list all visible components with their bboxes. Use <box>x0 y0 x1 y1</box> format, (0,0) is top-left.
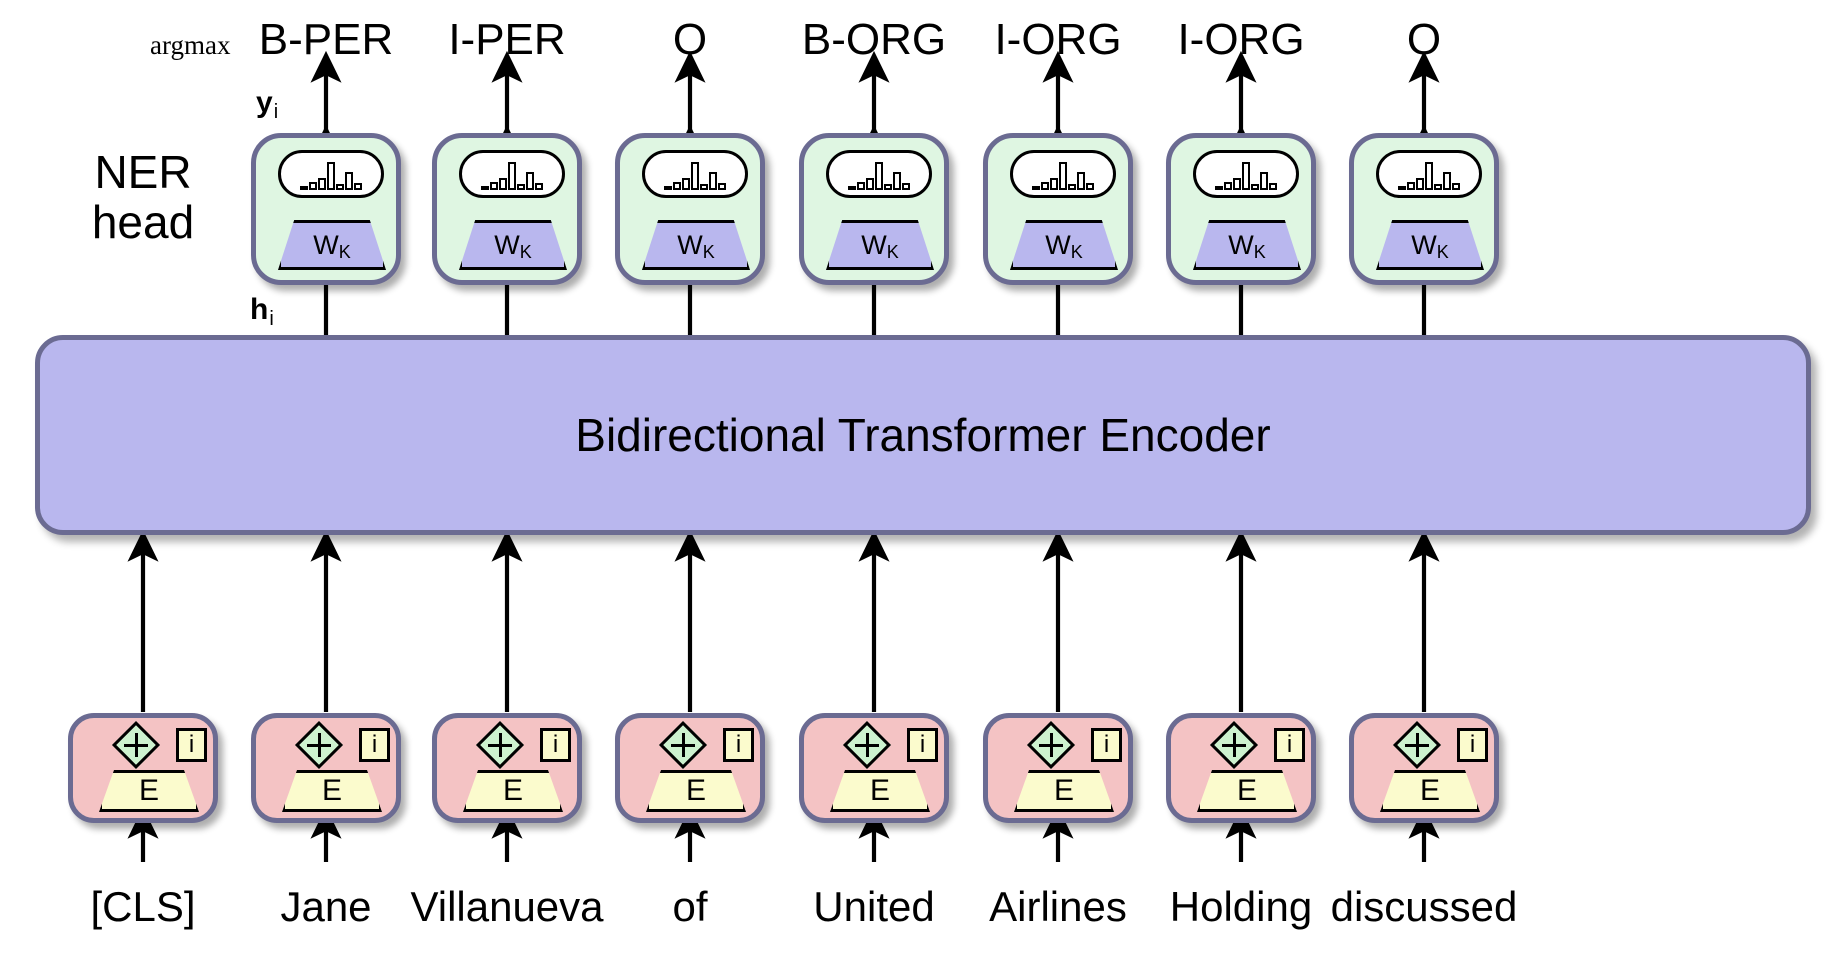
ner-head-cell[interactable]: WK <box>251 133 401 285</box>
softmax-histogram <box>1032 156 1094 190</box>
softmax-bar <box>300 186 308 190</box>
embedding-cell[interactable]: i E <box>615 713 765 823</box>
softmax-bar <box>700 184 708 190</box>
softmax-histogram <box>1215 156 1277 190</box>
softmax-distribution-pill <box>1376 150 1482 198</box>
softmax-bar <box>1077 172 1085 190</box>
plus-glyph-icon <box>1217 728 1251 762</box>
diagram-canvas: B-PER I-PER O B-ORG I-ORG I-ORG O argmax… <box>0 0 1846 958</box>
softmax-distribution-pill <box>642 150 748 198</box>
encoder-label: Bidirectional Transformer Encoder <box>575 408 1270 462</box>
softmax-bar <box>1269 183 1277 190</box>
argmax-label: argmax <box>150 32 230 59</box>
softmax-bar <box>517 184 525 190</box>
embedding-cell[interactable]: i E <box>799 713 949 823</box>
softmax-bar <box>875 162 883 190</box>
weight-label: WK <box>1010 220 1118 270</box>
embedding-trapezoid[interactable]: E <box>646 770 746 812</box>
tag-label-5: I-ORG <box>1177 18 1304 62</box>
weight-label: WK <box>278 220 386 270</box>
embedding-label: E <box>1197 770 1297 812</box>
softmax-distribution-pill <box>278 150 384 198</box>
weight-subscript: K <box>887 242 899 263</box>
softmax-bar <box>664 186 672 190</box>
softmax-bar <box>682 178 690 190</box>
softmax-bar <box>691 162 699 190</box>
softmax-bar <box>327 162 335 190</box>
embedding-label: E <box>830 770 930 812</box>
softmax-bar <box>309 182 317 190</box>
weight-subscript: K <box>1071 242 1083 263</box>
weight-label: WK <box>1376 220 1484 270</box>
softmax-distribution-pill <box>1010 150 1116 198</box>
embedding-trapezoid[interactable]: E <box>99 770 199 812</box>
softmax-distribution-pill <box>826 150 932 198</box>
ner-weight-trapezoid[interactable]: WK <box>1010 220 1118 270</box>
tag-label-6: O <box>1407 18 1441 62</box>
tag-label-4: I-ORG <box>994 18 1121 62</box>
softmax-bar <box>508 162 516 190</box>
weight-label: WK <box>826 220 934 270</box>
weight-symbol: W <box>313 230 338 261</box>
ner-weight-trapezoid[interactable]: WK <box>1193 220 1301 270</box>
position-index-box: i <box>1457 728 1488 762</box>
softmax-bar <box>1215 186 1223 190</box>
tag-label-3: B-ORG <box>802 18 946 62</box>
ner-head-cell[interactable]: WK <box>1166 133 1316 285</box>
position-index-box: i <box>1091 728 1122 762</box>
softmax-bar <box>673 182 681 190</box>
softmax-bar <box>526 172 534 190</box>
embedding-cell[interactable]: i E <box>1166 713 1316 823</box>
softmax-bar <box>490 182 498 190</box>
softmax-distribution-pill <box>459 150 565 198</box>
y-vector-label: yi <box>256 88 277 118</box>
embedding-cell[interactable]: i E <box>251 713 401 823</box>
tag-label-0: B-PER <box>259 18 393 62</box>
token-word: of <box>672 886 707 928</box>
plus-glyph-icon <box>302 728 336 762</box>
softmax-bar <box>884 184 892 190</box>
softmax-bar <box>1032 186 1040 190</box>
ner-head-cell[interactable]: WK <box>799 133 949 285</box>
token-word: [CLS] <box>90 886 195 928</box>
position-index-box: i <box>723 728 754 762</box>
position-index-box: i <box>1274 728 1305 762</box>
embedding-trapezoid[interactable]: E <box>1014 770 1114 812</box>
softmax-bar <box>902 183 910 190</box>
embedding-label: E <box>1014 770 1114 812</box>
embedding-cell[interactable]: i E <box>68 713 218 823</box>
softmax-bar <box>857 182 865 190</box>
softmax-bar <box>1407 182 1415 190</box>
softmax-histogram <box>1398 156 1460 190</box>
ner-head-label-line2: head <box>92 198 194 248</box>
y-symbol: y <box>256 86 273 119</box>
weight-label: WK <box>459 220 567 270</box>
softmax-distribution-pill <box>1193 150 1299 198</box>
ner-head-section-label: NER head <box>92 148 194 247</box>
token-word: United <box>813 886 934 928</box>
softmax-bar <box>1233 178 1241 190</box>
softmax-bar <box>1242 162 1250 190</box>
embedding-label: E <box>282 770 382 812</box>
weight-symbol: W <box>677 230 702 261</box>
softmax-bar <box>718 183 726 190</box>
softmax-bar <box>1260 172 1268 190</box>
embedding-label: E <box>1380 770 1480 812</box>
tag-label-1: I-PER <box>448 18 565 62</box>
weight-label: WK <box>642 220 750 270</box>
softmax-bar <box>535 183 543 190</box>
ner-weight-trapezoid[interactable]: WK <box>278 220 386 270</box>
weight-label: WK <box>1193 220 1301 270</box>
h-symbol: h <box>250 293 268 326</box>
position-index-box: i <box>540 728 571 762</box>
softmax-bar <box>848 186 856 190</box>
plus-glyph-icon <box>119 728 153 762</box>
softmax-bar <box>336 184 344 190</box>
embedding-cell[interactable]: i E <box>983 713 1133 823</box>
position-index-box: i <box>176 728 207 762</box>
token-word: Airlines <box>989 886 1127 928</box>
softmax-bar <box>354 183 362 190</box>
softmax-histogram <box>300 156 362 190</box>
weight-subscript: K <box>520 242 532 263</box>
weight-subscript: K <box>1254 242 1266 263</box>
ner-weight-trapezoid[interactable]: WK <box>642 220 750 270</box>
softmax-bar <box>345 172 353 190</box>
softmax-bar <box>1086 183 1094 190</box>
embedding-trapezoid[interactable]: E <box>1380 770 1480 812</box>
softmax-histogram <box>481 156 543 190</box>
weight-subscript: K <box>703 242 715 263</box>
embedding-cell[interactable]: i E <box>1349 713 1499 823</box>
embedding-label: E <box>99 770 199 812</box>
softmax-histogram <box>848 156 910 190</box>
softmax-bar <box>1059 162 1067 190</box>
softmax-bar <box>709 172 717 190</box>
ner-head-cell[interactable]: WK <box>432 133 582 285</box>
plus-glyph-icon <box>1400 728 1434 762</box>
h-vector-label: hi <box>250 295 273 325</box>
y-subscript: i <box>274 101 278 123</box>
position-index-box: i <box>359 728 390 762</box>
weight-subscript: K <box>339 242 351 263</box>
softmax-bar <box>1452 183 1460 190</box>
h-subscript: i <box>269 308 273 330</box>
softmax-bar <box>499 178 507 190</box>
softmax-bar <box>318 178 326 190</box>
embedding-cell[interactable]: i E <box>432 713 582 823</box>
token-word: Villanueva <box>410 886 603 928</box>
embedding-trapezoid[interactable]: E <box>463 770 563 812</box>
softmax-bar <box>1398 186 1406 190</box>
weight-symbol: W <box>1411 230 1436 261</box>
ner-weight-trapezoid[interactable]: WK <box>826 220 934 270</box>
token-word: Jane <box>280 886 371 928</box>
plus-glyph-icon <box>483 728 517 762</box>
weight-symbol: W <box>1228 230 1253 261</box>
embedding-trapezoid[interactable]: E <box>282 770 382 812</box>
position-index-box: i <box>907 728 938 762</box>
weight-subscript: K <box>1437 242 1449 263</box>
token-word: Holding <box>1170 886 1312 928</box>
softmax-bar <box>1443 172 1451 190</box>
ner-head-label-line1: NER <box>92 148 194 198</box>
ner-weight-trapezoid[interactable]: WK <box>459 220 567 270</box>
tag-label-2: O <box>673 18 707 62</box>
softmax-bar <box>866 178 874 190</box>
ner-head-cell[interactable]: WK <box>983 133 1133 285</box>
softmax-bar <box>1068 184 1076 190</box>
softmax-bar <box>1041 182 1049 190</box>
softmax-bar <box>893 172 901 190</box>
transformer-encoder-block[interactable]: Bidirectional Transformer Encoder <box>35 335 1811 535</box>
weight-symbol: W <box>494 230 519 261</box>
plus-glyph-icon <box>1034 728 1068 762</box>
softmax-bar <box>1251 184 1259 190</box>
token-word: discussed <box>1331 886 1518 928</box>
weight-symbol: W <box>1045 230 1070 261</box>
softmax-bar <box>1050 178 1058 190</box>
plus-glyph-icon <box>666 728 700 762</box>
softmax-bar <box>1416 178 1424 190</box>
softmax-bar <box>481 186 489 190</box>
embedding-label: E <box>646 770 746 812</box>
embedding-trapezoid[interactable]: E <box>1197 770 1297 812</box>
ner-weight-trapezoid[interactable]: WK <box>1376 220 1484 270</box>
softmax-histogram <box>664 156 726 190</box>
embedding-label: E <box>463 770 563 812</box>
ner-head-cell[interactable]: WK <box>615 133 765 285</box>
ner-head-cell[interactable]: WK <box>1349 133 1499 285</box>
plus-glyph-icon <box>850 728 884 762</box>
weight-symbol: W <box>861 230 886 261</box>
embedding-trapezoid[interactable]: E <box>830 770 930 812</box>
softmax-bar <box>1224 182 1232 190</box>
softmax-bar <box>1425 162 1433 190</box>
softmax-bar <box>1434 184 1442 190</box>
